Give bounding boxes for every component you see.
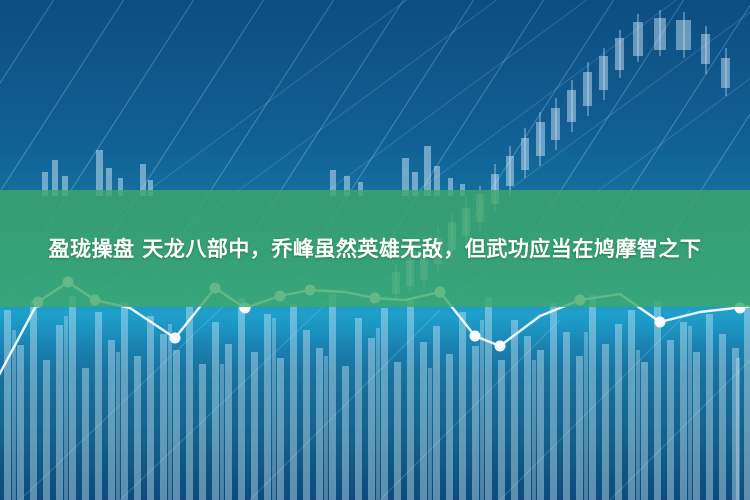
caption-text: 盈珑操盘 天龙八部中，乔峰虽然英雄无敌，但武功应当在鸠摩智之下 (49, 230, 702, 268)
volume-stubs-top (42, 146, 465, 196)
banner-image: 盈珑操盘 天龙八部中，乔峰虽然英雄无敌，但武功应当在鸠摩智之下 (0, 0, 750, 500)
caption-band: 盈珑操盘 天龙八部中，乔峰虽然英雄无敌，但武功应当在鸠摩智之下 (0, 190, 750, 307)
